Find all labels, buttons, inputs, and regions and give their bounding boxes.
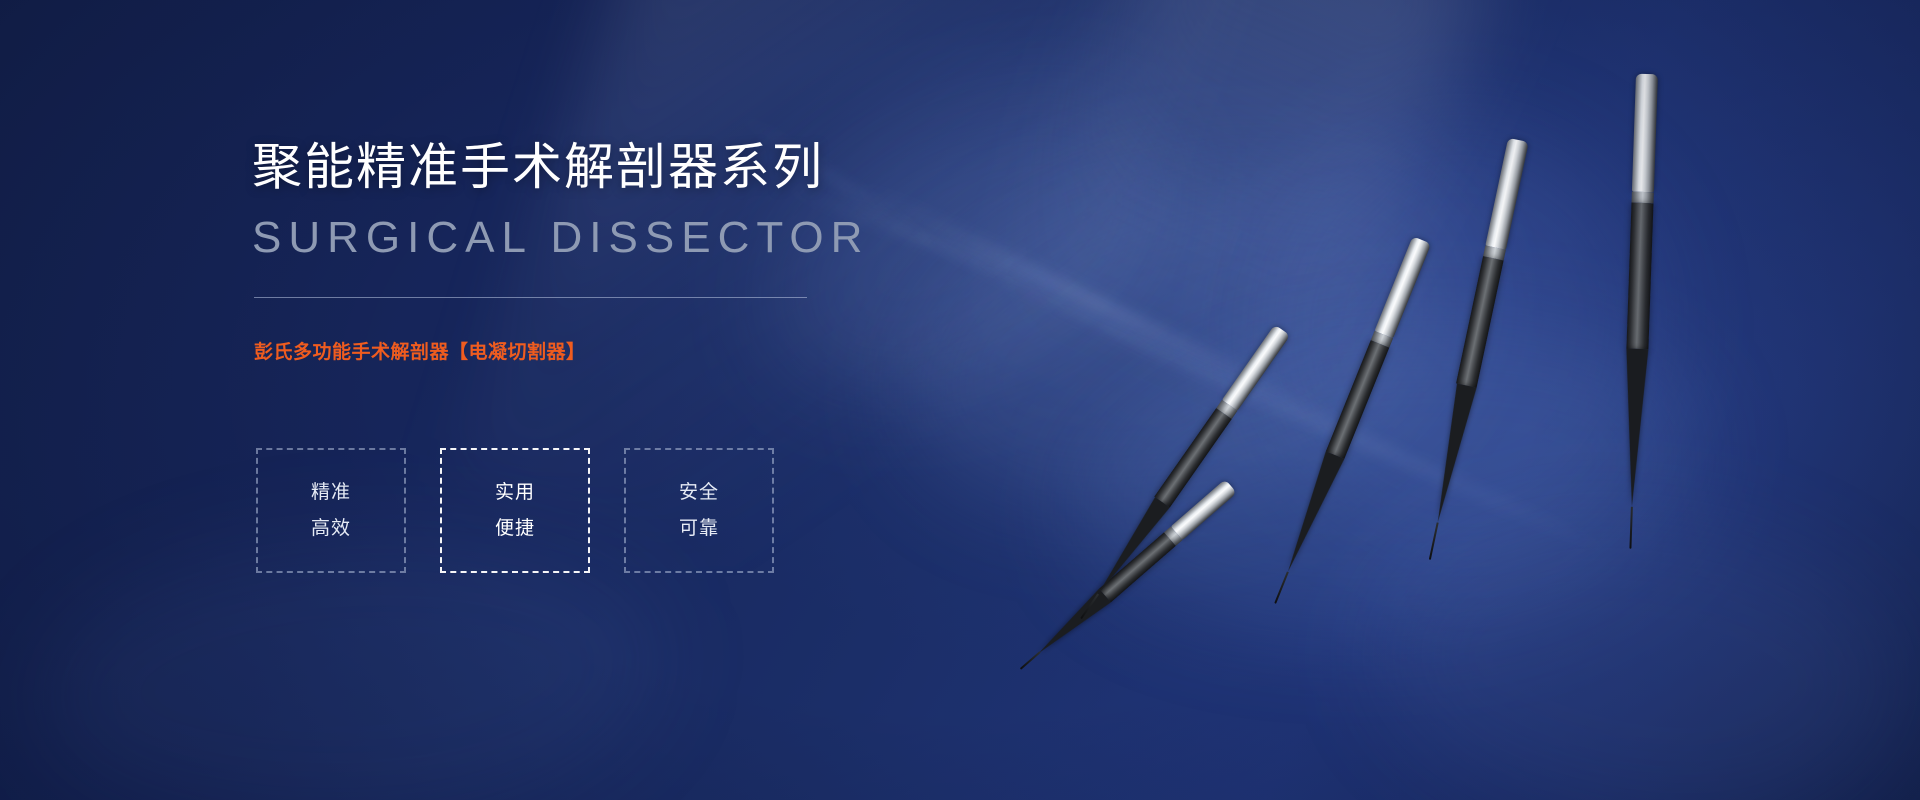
feature-box-precision: 精准 高效 [256,448,406,573]
feature-label-line2: 可靠 [679,515,719,543]
hero-banner: 聚能精准手术解剖器系列 SURGICAL DISSECTOR 彭氏多功能手术解剖… [0,0,1920,800]
feature-label-line2: 便捷 [495,515,535,543]
product-name-label: 彭氏多功能手术解剖器【电凝切割器】 [254,337,586,364]
page-title: 聚能精准手术解剖器系列 [252,140,824,195]
feature-label-line1: 实用 [495,479,535,507]
banner-content: 聚能精准手术解剖器系列 SURGICAL DISSECTOR 彭氏多功能手术解剖… [0,0,1920,800]
page-subtitle-english: SURGICAL DISSECTOR [252,214,869,262]
feature-label-line1: 安全 [679,479,719,507]
feature-label-line1: 精准 [311,479,351,507]
feature-box-safety: 安全 可靠 [624,448,774,573]
feature-box-row: 精准 高效 实用 便捷 安全 可靠 [256,448,774,573]
feature-label-line2: 高效 [311,515,351,543]
title-divider [254,297,807,298]
feature-box-practical: 实用 便捷 [440,448,590,573]
